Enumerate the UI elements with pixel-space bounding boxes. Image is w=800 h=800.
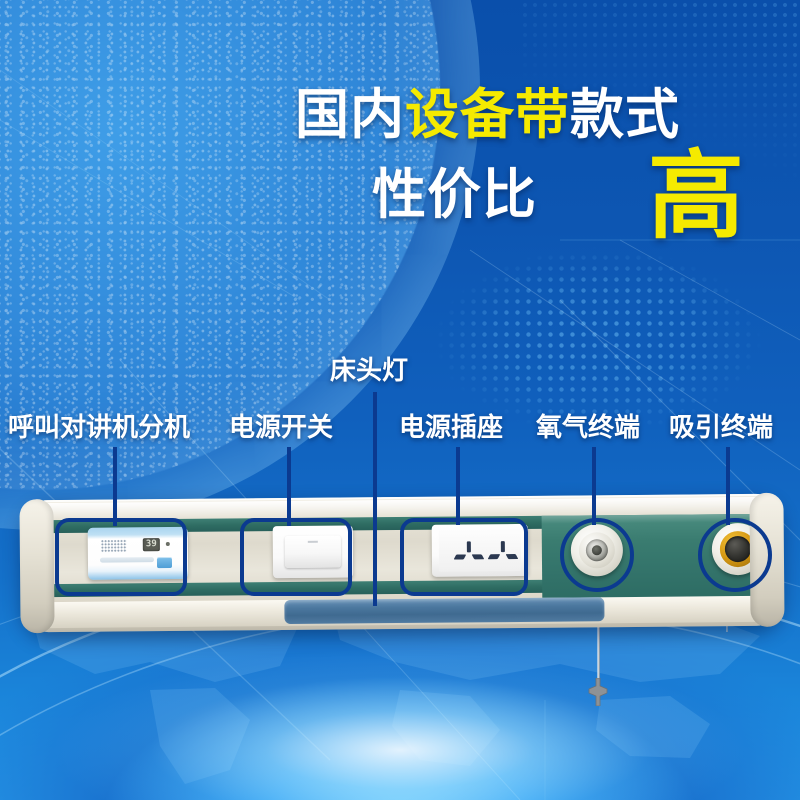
leader-line-power-switch <box>287 447 291 526</box>
highlight-box-suction <box>698 518 772 592</box>
unit-end-cap-left <box>19 499 54 633</box>
callout-label-power-socket: 电源插座 <box>399 415 503 441</box>
leader-line-power-socket <box>456 447 460 525</box>
cord-connector-icon <box>583 678 613 706</box>
callout-label-intercom: 呼叫对讲机分机 <box>8 415 190 441</box>
headline-emphasis-character: 高 <box>648 148 744 244</box>
highlight-box-oxygen <box>560 518 634 592</box>
highlight-box-intercom <box>55 518 187 596</box>
leader-line-suction <box>726 447 730 525</box>
headline-part-3: 款式 <box>570 83 680 146</box>
promo-image: 国内设备带款式 性价比 高 呼叫对讲机分机 电源开关 床头灯 电源插座 氧气终端… <box>0 0 800 800</box>
highlight-box-power-socket <box>400 518 528 596</box>
leader-line-bed-lamp <box>373 392 377 606</box>
leader-line-intercom <box>113 447 117 526</box>
horizon-glow <box>0 620 800 800</box>
highlight-box-power-switch <box>240 518 352 596</box>
callout-label-bed-lamp: 床头灯 <box>330 358 408 384</box>
leader-line-oxygen <box>592 447 596 525</box>
callout-label-power-switch: 电源开关 <box>229 415 333 441</box>
callout-label-oxygen: 氧气终端 <box>536 415 640 441</box>
callout-label-suction: 吸引终端 <box>669 415 773 441</box>
headline-line-1: 国内设备带款式 <box>295 88 680 142</box>
headline-line-2-text: 性价比 <box>372 163 537 226</box>
headline-line-2: 性价比 <box>372 168 537 222</box>
unit-center-rail <box>284 597 604 624</box>
headline-part-1: 国内 <box>295 83 405 146</box>
headline-part-2-highlight: 设备带 <box>405 83 570 146</box>
